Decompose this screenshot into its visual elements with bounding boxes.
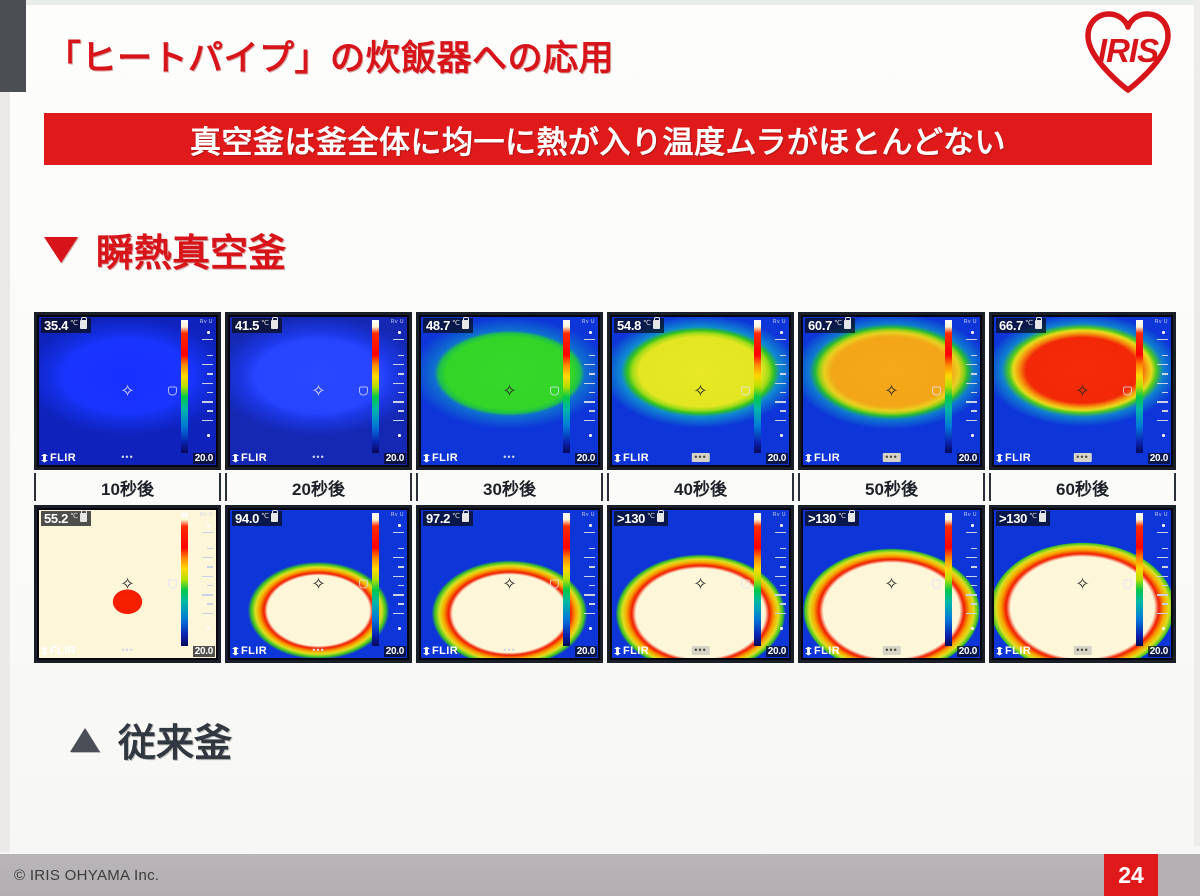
temperature-readout: 48.7 ℃: [423, 318, 473, 333]
thermal-cell: 54.8 ℃ Rv U ✧ FLIR ••• 20.0: [607, 312, 794, 470]
flir-brand-text: FLIR: [814, 645, 840, 657]
thermal-panel[interactable]: 41.5 ℃ Rv U ✧ FLIR ••• 20.0: [225, 312, 412, 470]
scale-tick: [971, 603, 977, 605]
scale-tick: [398, 373, 404, 375]
scale-dot-lower: [589, 434, 592, 437]
scale-min-value: 20.0: [766, 646, 788, 657]
scale-dot-lower: [589, 627, 592, 630]
scale-head-label: Rv U: [200, 319, 213, 325]
scale-tick: [1157, 383, 1168, 385]
color-scale-ticks: Rv U: [763, 320, 788, 453]
flir-brand-text: FLIR: [432, 452, 458, 464]
scale-tick: [589, 585, 595, 587]
thermal-cell: 97.2 ℃ Rv U ✧ FLIR ••• 20.0: [416, 505, 603, 663]
thermal-panel[interactable]: >130 ℃ Rv U ✧ FLIR ••• 20.0: [607, 505, 794, 663]
temperature-unit: ℃: [452, 320, 460, 327]
scale-tick: [780, 355, 786, 357]
spot-meter-icon: [932, 580, 941, 589]
section-label-bottom-text: 従来釜: [118, 712, 232, 767]
scale-dot-lower: [398, 627, 401, 630]
thermal-panel[interactable]: 48.7 ℃ Rv U ✧ FLIR ••• 20.0: [416, 312, 603, 470]
scale-head-label: Rv U: [773, 512, 786, 518]
scale-tick: [775, 383, 786, 385]
spot-meter-icon: [359, 580, 368, 589]
scale-tick: [971, 355, 977, 357]
scale-dot-upper: [589, 331, 592, 334]
scale-dot-upper: [589, 524, 592, 527]
flir-brand-text: FLIR: [432, 645, 458, 657]
scale-tick: [775, 401, 786, 403]
flir-logo: FLIR: [41, 452, 76, 464]
thermal-cell: >130 ℃ Rv U ✧ FLIR ••• 20.0: [607, 505, 794, 663]
scale-tick: [1162, 373, 1168, 375]
thermal-panel[interactable]: 94.0 ℃ Rv U ✧ FLIR ••• 20.0: [225, 505, 412, 663]
scale-min-value: 20.0: [384, 646, 406, 657]
scale-min-value: 20.0: [193, 646, 215, 657]
slide-top-edge: [26, 0, 1200, 5]
flir-mark-icon: [41, 647, 48, 656]
scale-tick: [207, 355, 213, 357]
scale-tick: [966, 339, 977, 341]
time-label: 10秒後: [101, 475, 154, 500]
scale-tick: [780, 373, 786, 375]
slide-right-strip: [1194, 0, 1200, 846]
scale-tick: [589, 373, 595, 375]
scale-tick: [775, 339, 786, 341]
scale-head-label: Rv U: [964, 319, 977, 325]
page-number-badge: 24: [1104, 854, 1158, 896]
spot-meter-icon: [168, 580, 177, 589]
temperature-value: >130: [808, 512, 836, 525]
scale-tick: [775, 420, 786, 422]
highlight-banner: 真空釜は釜全体に均一に熱が入り温度ムラがほとんどない: [44, 113, 1152, 165]
scale-tick: [1162, 603, 1168, 605]
flir-mark-icon: [996, 647, 1003, 656]
lock-icon: [80, 513, 87, 522]
crosshair-marker: ✧: [310, 576, 327, 593]
thermal-panel[interactable]: >130 ℃ Rv U ✧ FLIR ••• 20.0: [798, 505, 985, 663]
slide-left-strip: [0, 92, 10, 852]
thermal-panel[interactable]: 35.4 ℃ Rv U ✧ FLIR ••• 20.0: [34, 312, 221, 470]
status-dots: •••: [503, 453, 515, 462]
scale-tick: [780, 548, 786, 550]
triangle-down-icon: [44, 237, 78, 263]
scale-tick: [1162, 392, 1168, 394]
temperature-value: >130: [617, 512, 645, 525]
temperature-unit: ℃: [70, 320, 78, 327]
iris-ohyama-logo: IRIS: [1082, 8, 1174, 94]
status-dots: •••: [882, 453, 900, 462]
scale-tick: [1162, 355, 1168, 357]
thermal-row-vacuum-pot: 35.4 ℃ Rv U ✧ FLIR ••• 20.0 41.5 ℃: [34, 312, 1176, 470]
scale-tick: [207, 373, 213, 375]
scale-dot-lower: [1162, 627, 1165, 630]
color-scale-ticks: Rv U: [381, 320, 406, 453]
flir-mark-icon: [423, 647, 430, 656]
thermal-panel[interactable]: 54.8 ℃ Rv U ✧ FLIR ••• 20.0: [607, 312, 794, 470]
color-scale-bar: [372, 513, 379, 646]
scale-head-label: Rv U: [200, 512, 213, 518]
scale-tick: [1157, 364, 1168, 366]
spot-meter-icon: [168, 387, 177, 396]
scale-tick: [589, 603, 595, 605]
scale-head-label: Rv U: [1155, 319, 1168, 325]
color-scale-bar: [945, 513, 952, 646]
flir-mark-icon: [232, 647, 239, 656]
section-label-vacuum-pot: 瞬熱真空釜: [44, 222, 286, 277]
color-scale-bar: [563, 513, 570, 646]
flir-logo: FLIR: [41, 645, 76, 657]
lock-icon: [1039, 513, 1046, 522]
svg-text:IRIS: IRIS: [1098, 32, 1159, 69]
flir-brand-text: FLIR: [1005, 645, 1031, 657]
scale-tick: [780, 603, 786, 605]
scale-tick: [966, 532, 977, 534]
color-scale: Rv U: [181, 513, 215, 646]
color-scale-bar: [563, 320, 570, 453]
time-label: 30秒後: [483, 475, 536, 500]
scale-tick: [971, 585, 977, 587]
crosshair-marker: ✧: [883, 576, 900, 593]
flir-logo: FLIR: [805, 645, 840, 657]
temperature-value: 35.4: [44, 319, 68, 332]
scale-tick: [1157, 401, 1168, 403]
crosshair-marker: ✧: [692, 383, 709, 400]
temperature-readout: 94.0 ℃: [232, 511, 282, 526]
flir-brand-text: FLIR: [1005, 452, 1031, 464]
scale-tick: [207, 410, 213, 412]
color-scale: Rv U: [181, 320, 215, 453]
scale-tick: [393, 401, 404, 403]
footer-right-pad: [1158, 854, 1200, 896]
lock-icon: [462, 320, 469, 329]
temperature-readout: >130 ℃: [996, 511, 1050, 526]
temperature-unit: ℃: [261, 320, 269, 327]
scale-dot-lower: [971, 434, 974, 437]
scale-head-label: Rv U: [1155, 512, 1168, 518]
scale-tick: [393, 557, 404, 559]
color-scale: Rv U: [563, 320, 597, 453]
thermal-panel[interactable]: 66.7 ℃ Rv U ✧ FLIR ••• 20.0: [989, 312, 1176, 470]
scale-tick: [966, 557, 977, 559]
color-scale-bar: [372, 320, 379, 453]
temperature-unit: ℃: [643, 320, 651, 327]
lock-icon: [462, 513, 469, 522]
scale-tick: [971, 548, 977, 550]
scale-tick: [1157, 339, 1168, 341]
scale-tick: [1157, 532, 1168, 534]
scale-head-label: Rv U: [964, 512, 977, 518]
time-label: 40秒後: [674, 475, 727, 500]
thermal-panel[interactable]: 97.2 ℃ Rv U ✧ FLIR ••• 20.0: [416, 505, 603, 663]
scale-min-value: 20.0: [575, 646, 597, 657]
scale-tick: [775, 576, 786, 578]
status-dots: •••: [882, 646, 900, 655]
status-dots: •••: [312, 646, 324, 655]
color-scale: Rv U: [945, 320, 979, 453]
scale-tick: [207, 392, 213, 394]
color-scale-bar: [754, 513, 761, 646]
scale-tick: [207, 603, 213, 605]
scale-tick: [202, 613, 213, 615]
color-scale: Rv U: [372, 513, 406, 646]
scale-head-label: Rv U: [773, 319, 786, 325]
lock-icon: [653, 320, 660, 329]
color-scale: Rv U: [372, 320, 406, 453]
scale-tick: [971, 410, 977, 412]
color-scale: Rv U: [754, 513, 788, 646]
scale-tick: [1162, 585, 1168, 587]
scale-tick: [966, 364, 977, 366]
scale-tick: [393, 576, 404, 578]
flir-logo: FLIR: [996, 645, 1031, 657]
crosshair-marker: ✧: [501, 576, 518, 593]
thermal-cell: >130 ℃ Rv U ✧ FLIR ••• 20.0: [798, 505, 985, 663]
time-label-cell: 10秒後: [34, 473, 221, 501]
temperature-readout: 60.7 ℃: [805, 318, 855, 333]
time-label-cell: 60秒後: [989, 473, 1176, 501]
time-label-cell: 50秒後: [798, 473, 985, 501]
scale-tick: [207, 566, 213, 568]
scale-dot-upper: [971, 331, 974, 334]
color-scale-ticks: Rv U: [190, 320, 215, 453]
thermal-cell: >130 ℃ Rv U ✧ FLIR ••• 20.0: [989, 505, 1176, 663]
flir-logo: FLIR: [232, 452, 267, 464]
temperature-value: 54.8: [617, 319, 641, 332]
lock-icon: [80, 320, 87, 329]
lock-icon: [1035, 320, 1042, 329]
lock-icon: [271, 320, 278, 329]
crosshair-marker: ✧: [692, 576, 709, 593]
flir-logo: FLIR: [996, 452, 1031, 464]
temperature-readout: 35.4 ℃: [41, 318, 91, 333]
spot-meter-icon: [550, 580, 559, 589]
scale-tick: [398, 392, 404, 394]
scale-tick: [780, 585, 786, 587]
scale-tick: [780, 566, 786, 568]
flir-mark-icon: [805, 647, 812, 656]
flir-brand-text: FLIR: [241, 645, 267, 657]
flir-mark-icon: [805, 454, 812, 463]
color-scale-bar: [181, 320, 188, 453]
scale-head-label: Rv U: [582, 512, 595, 518]
temperature-value: 48.7: [426, 319, 450, 332]
scale-tick: [584, 532, 595, 534]
thermal-cell: 48.7 ℃ Rv U ✧ FLIR ••• 20.0: [416, 312, 603, 470]
banner-text: 真空釜は釜全体に均一に熱が入り温度ムラがほとんどない: [190, 117, 1006, 162]
color-scale-ticks: Rv U: [954, 513, 979, 646]
temperature-readout: 66.7 ℃: [996, 318, 1046, 333]
flir-logo: FLIR: [614, 645, 649, 657]
color-scale-ticks: Rv U: [190, 513, 215, 646]
scale-tick: [584, 420, 595, 422]
spot-meter-icon: [1123, 387, 1132, 396]
crosshair-marker: ✧: [1074, 383, 1091, 400]
scale-dot-lower: [971, 627, 974, 630]
scale-tick: [393, 339, 404, 341]
scale-dot-lower: [1162, 434, 1165, 437]
flir-brand-text: FLIR: [241, 452, 267, 464]
temperature-readout: 55.2 ℃: [41, 511, 91, 526]
temperature-value: 94.0: [235, 512, 259, 525]
scale-tick: [775, 364, 786, 366]
scale-tick: [775, 594, 786, 596]
flir-logo: FLIR: [805, 452, 840, 464]
scale-tick: [584, 594, 595, 596]
scale-dot-lower: [780, 434, 783, 437]
temperature-unit: ℃: [838, 513, 846, 520]
thermal-panel[interactable]: >130 ℃ Rv U ✧ FLIR ••• 20.0: [989, 505, 1176, 663]
flir-logo: FLIR: [232, 645, 267, 657]
scale-min-value: 20.0: [1148, 646, 1170, 657]
crosshair-marker: ✧: [1074, 576, 1091, 593]
lock-icon: [657, 513, 664, 522]
scale-dot-lower: [207, 434, 210, 437]
thermal-panel[interactable]: 55.2 ℃ Rv U ✧ FLIR ••• 20.0: [34, 505, 221, 663]
scale-tick: [202, 383, 213, 385]
thermal-cell: 35.4 ℃ Rv U ✧ FLIR ••• 20.0: [34, 312, 221, 470]
spot-meter-icon: [932, 387, 941, 396]
scale-tick: [589, 392, 595, 394]
flir-logo: FLIR: [423, 452, 458, 464]
temperature-readout: >130 ℃: [805, 511, 859, 526]
scale-dot-upper: [1162, 331, 1165, 334]
time-label-row: 10秒後20秒後30秒後40秒後50秒後60秒後: [34, 473, 1176, 501]
scale-tick: [202, 401, 213, 403]
scale-tick: [775, 613, 786, 615]
temperature-value: 60.7: [808, 319, 832, 332]
color-scale-ticks: Rv U: [572, 320, 597, 453]
color-scale-ticks: Rv U: [1145, 513, 1170, 646]
status-dots: •••: [121, 453, 133, 462]
status-dots: •••: [121, 646, 133, 655]
scale-tick: [207, 548, 213, 550]
scale-tick: [589, 410, 595, 412]
temperature-value: >130: [999, 512, 1027, 525]
scale-dot-upper: [398, 331, 401, 334]
scale-tick: [584, 383, 595, 385]
scale-head-label: Rv U: [582, 319, 595, 325]
thermal-cell: 94.0 ℃ Rv U ✧ FLIR ••• 20.0: [225, 505, 412, 663]
time-label-cell: 40秒後: [607, 473, 794, 501]
flir-mark-icon: [614, 647, 621, 656]
status-dots: •••: [1073, 646, 1091, 655]
flir-brand-text: FLIR: [814, 452, 840, 464]
scale-tick: [202, 364, 213, 366]
flir-brand-text: FLIR: [623, 452, 649, 464]
temperature-readout: >130 ℃: [614, 511, 668, 526]
temperature-unit: ℃: [647, 513, 655, 520]
scale-tick: [1157, 594, 1168, 596]
scale-tick: [780, 392, 786, 394]
color-scale-ticks: Rv U: [381, 513, 406, 646]
temperature-unit: ℃: [834, 320, 842, 327]
scale-tick: [966, 383, 977, 385]
flir-brand-text: FLIR: [50, 452, 76, 464]
scale-tick: [393, 383, 404, 385]
scale-dot-upper: [207, 331, 210, 334]
crosshair-marker: ✧: [883, 383, 900, 400]
scale-tick: [589, 566, 595, 568]
status-dots: •••: [691, 453, 709, 462]
scale-tick: [584, 364, 595, 366]
color-scale-ticks: Rv U: [1145, 320, 1170, 453]
temperature-value: 55.2: [44, 512, 68, 525]
scale-head-label: Rv U: [391, 512, 404, 518]
scale-tick: [966, 594, 977, 596]
color-scale-bar: [181, 513, 188, 646]
flir-logo: FLIR: [614, 452, 649, 464]
time-label-cell: 30秒後: [416, 473, 603, 501]
copyright-text: © IRIS OHYAMA Inc.: [14, 867, 159, 884]
temperature-value: 66.7: [999, 319, 1023, 332]
scale-min-value: 20.0: [766, 453, 788, 464]
color-scale-bar: [945, 320, 952, 453]
scale-tick: [207, 585, 213, 587]
scale-min-value: 20.0: [957, 453, 979, 464]
scale-tick: [393, 532, 404, 534]
scale-dot-lower: [780, 627, 783, 630]
color-scale-ticks: Rv U: [763, 513, 788, 646]
spot-meter-icon: [741, 387, 750, 396]
flir-mark-icon: [232, 454, 239, 463]
temperature-unit: ℃: [70, 513, 78, 520]
thermal-cell: 41.5 ℃ Rv U ✧ FLIR ••• 20.0: [225, 312, 412, 470]
thermal-panel[interactable]: 60.7 ℃ Rv U ✧ FLIR ••• 20.0: [798, 312, 985, 470]
scale-tick: [966, 576, 977, 578]
scale-dot-upper: [780, 331, 783, 334]
flir-brand-text: FLIR: [50, 645, 76, 657]
scale-tick: [1162, 410, 1168, 412]
scale-tick: [398, 410, 404, 412]
flir-logo: FLIR: [423, 645, 458, 657]
scale-tick: [1157, 576, 1168, 578]
scale-tick: [966, 401, 977, 403]
temperature-unit: ℃: [452, 513, 460, 520]
scale-tick: [1157, 420, 1168, 422]
slide-left-dark-band: [0, 0, 26, 92]
scale-dot-upper: [780, 524, 783, 527]
lock-icon: [844, 320, 851, 329]
scale-tick: [584, 576, 595, 578]
lock-icon: [271, 513, 278, 522]
section-label-top-text: 瞬熱真空釜: [96, 222, 286, 277]
crosshair-marker: ✧: [119, 576, 136, 593]
color-scale: Rv U: [563, 513, 597, 646]
scale-tick: [966, 420, 977, 422]
temperature-readout: 41.5 ℃: [232, 318, 282, 333]
color-scale: Rv U: [1136, 513, 1170, 646]
thermal-cell: 55.2 ℃ Rv U ✧ FLIR ••• 20.0: [34, 505, 221, 663]
temperature-unit: ℃: [1025, 320, 1033, 327]
scale-tick: [393, 364, 404, 366]
time-label: 50秒後: [865, 475, 918, 500]
scale-dot-lower: [398, 434, 401, 437]
scale-tick: [1162, 548, 1168, 550]
section-label-conventional-pot: 従来釜: [70, 712, 232, 767]
time-label-cell: 20秒後: [225, 473, 412, 501]
color-scale-bar: [754, 320, 761, 453]
scale-tick: [202, 594, 213, 596]
flir-brand-text: FLIR: [623, 645, 649, 657]
scale-tick: [398, 603, 404, 605]
scale-dot-upper: [971, 524, 974, 527]
scale-tick: [589, 548, 595, 550]
time-label: 60秒後: [1056, 475, 1109, 500]
temperature-unit: ℃: [261, 513, 269, 520]
status-dots: •••: [1073, 453, 1091, 462]
color-scale-bar: [1136, 320, 1143, 453]
